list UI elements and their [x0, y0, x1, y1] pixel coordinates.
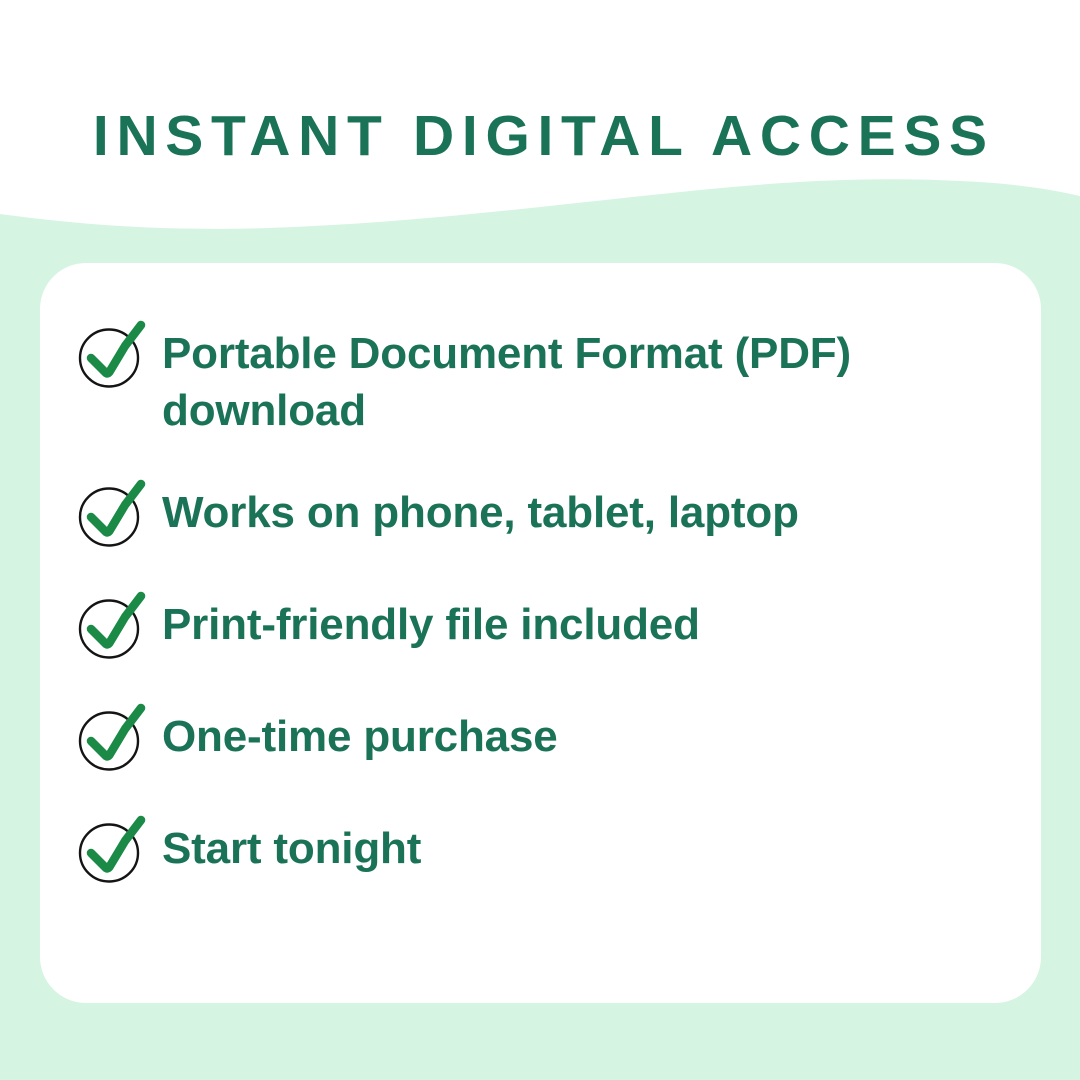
list-item: Start tonight	[75, 819, 1015, 887]
feature-label: One-time purchase	[162, 707, 1015, 765]
list-item: Print-friendly file included	[75, 595, 1015, 663]
page-title: INSTANT DIGITAL ACCESS	[0, 104, 1080, 168]
feature-list: Portable Document Format (PDF) download …	[40, 263, 1041, 1003]
feature-label: Print-friendly file included	[162, 595, 1015, 653]
list-item: One-time purchase	[75, 707, 1015, 775]
check-circle-icon	[75, 479, 147, 551]
feature-label: Works on phone, tablet, laptop	[162, 483, 1015, 541]
check-circle-icon	[75, 591, 147, 663]
list-item: Portable Document Format (PDF) download	[75, 324, 1015, 439]
feature-label: Portable Document Format (PDF) download	[162, 324, 1015, 439]
check-circle-icon	[75, 815, 147, 887]
check-circle-icon	[75, 320, 147, 392]
list-item: Works on phone, tablet, laptop	[75, 483, 1015, 551]
poster: INSTANT DIGITAL ACCESS Portable Document…	[0, 0, 1080, 1080]
check-circle-icon	[75, 703, 147, 775]
feature-label: Start tonight	[162, 819, 1015, 877]
features-card: Portable Document Format (PDF) download …	[40, 263, 1041, 1003]
